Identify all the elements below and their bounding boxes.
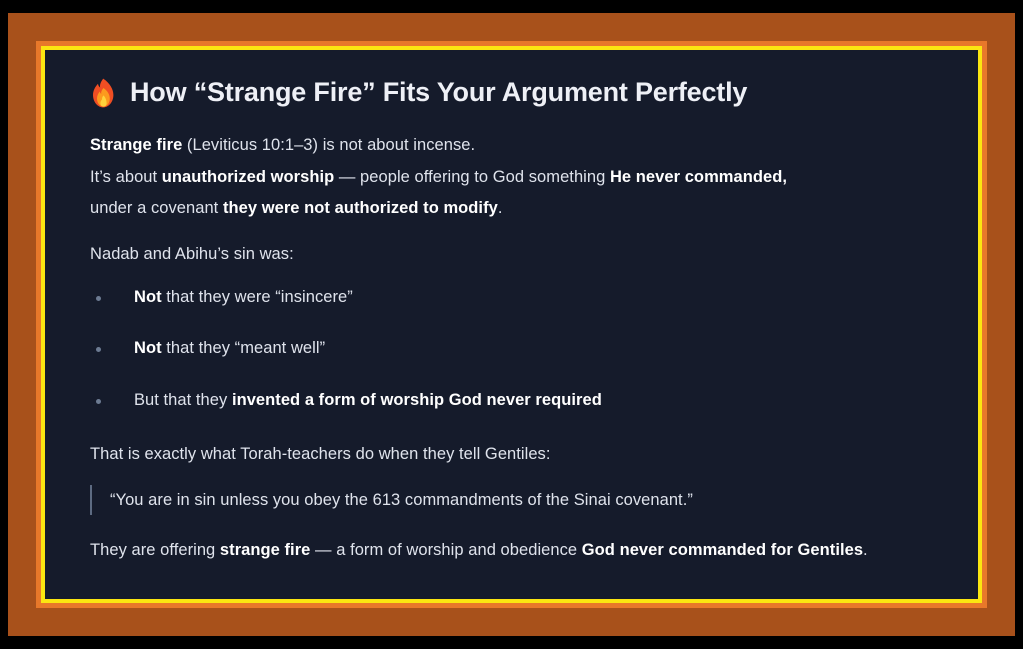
closing-c: . [863,541,868,559]
lead-line3-b: . [498,199,503,217]
screenshot-root: How “Strange Fire” Fits Your Argument Pe… [0,0,1023,649]
content-card: How “Strange Fire” Fits Your Argument Pe… [45,50,978,599]
bullet-3-bold: invented a form of worship God never req… [232,391,602,409]
lead-line3-a: under a covenant [90,199,223,217]
lead-bold-unauthorized-worship: unauthorized worship [162,168,334,186]
card-content: How “Strange Fire” Fits Your Argument Pe… [45,50,978,567]
bullet-2-rest: that they “meant well” [162,339,325,357]
blockquote-text: “You are in sin unless you obey the 613 … [110,491,693,509]
sin-bullet-list: Not that they were “insincere” Not that … [90,285,936,414]
page-title: How “Strange Fire” Fits Your Argument Pe… [90,77,936,108]
frame-yellow-border: How “Strange Fire” Fits Your Argument Pe… [41,46,982,603]
closing-b: — a form of worship and obedience [310,541,581,559]
closing-a: They are offering [90,541,220,559]
bullet-dot-icon [96,399,101,404]
lead-paragraph: Strange fire (Leviticus 10:1–3) is not a… [90,130,936,225]
closing-bold-strange-fire: strange fire [220,541,310,559]
list-item: But that they invented a form of worship… [96,388,936,414]
lead-line2-b: — people offering to God something [334,168,610,186]
bullet-dot-icon [96,347,101,352]
lead-line1-rest: (Leviticus 10:1–3) is not about incense. [182,136,475,154]
sin-intro-paragraph: Nadab and Abihu’s sin was: [90,239,936,271]
lead-bold-not-authorized-modify: they were not authorized to modify [223,199,498,217]
list-item: Not that they were “insincere” [96,285,936,311]
bullet-1-rest: that they were “insincere” [162,288,353,306]
lead-line2-a: It’s about [90,168,162,186]
blockquote-sinai-covenant: “You are in sin unless you obey the 613 … [90,485,936,515]
closing-paragraph: They are offering strange fire — a form … [90,535,936,567]
closing-bold-god-never-commanded: God never commanded for Gentiles [582,541,863,559]
fire-icon [90,78,116,108]
frame-orange-border: How “Strange Fire” Fits Your Argument Pe… [36,41,987,608]
lead-bold-strange-fire: Strange fire [90,136,182,154]
bullet-3-lead: But that they [134,391,232,409]
bullet-1-bold: Not [134,288,162,306]
page-title-text: How “Strange Fire” Fits Your Argument Pe… [130,77,747,108]
list-item: Not that they “meant well” [96,336,936,362]
bullet-2-bold: Not [134,339,162,357]
torah-teachers-paragraph: That is exactly what Torah-teachers do w… [90,439,936,471]
frame-brown-border: How “Strange Fire” Fits Your Argument Pe… [8,13,1015,636]
bullet-dot-icon [96,296,101,301]
lead-bold-he-never-commanded: He never commanded, [610,168,787,186]
